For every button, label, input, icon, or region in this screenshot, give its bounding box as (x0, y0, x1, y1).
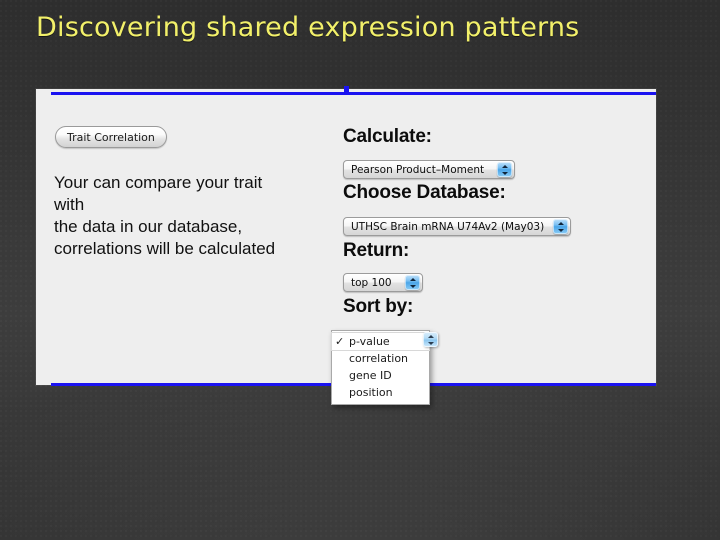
checkmark-icon: ✓ (335, 333, 344, 350)
panel-top-rule-notch (344, 86, 349, 92)
menu-item-label: p-value (349, 335, 390, 348)
menu-item-gene-id[interactable]: gene ID (332, 367, 429, 384)
chevron-updown-icon (405, 275, 420, 290)
sort-by-open-menu[interactable]: ✓ p-value correlation gene ID position (331, 330, 430, 405)
menu-item-correlation[interactable]: correlation (332, 350, 429, 367)
description-line-3: the data in our database, (54, 216, 334, 238)
chevron-updown-icon (497, 162, 512, 177)
slide-title: Discovering shared expression patterns (36, 12, 579, 43)
description-text: Your can compare your trait with the dat… (54, 172, 334, 260)
description-line-1: Your can compare your trait (54, 172, 334, 194)
sort-by-heading: Sort by: (343, 296, 413, 318)
database-heading: Choose Database: (343, 182, 506, 204)
menu-item-p-value[interactable]: ✓ p-value (332, 333, 429, 350)
database-select[interactable]: UTHSC Brain mRNA U74Av2 (May03) (343, 217, 571, 236)
calculate-select[interactable]: Pearson Product–Moment (343, 160, 515, 179)
menu-item-label: correlation (349, 352, 408, 365)
description-line-2: with (54, 194, 334, 216)
menu-item-position[interactable]: position (332, 384, 429, 401)
menu-item-label: position (349, 386, 393, 399)
database-select-value: UTHSC Brain mRNA U74Av2 (May03) (351, 221, 548, 233)
trait-correlation-button-label: Trait Correlation (67, 131, 155, 144)
trait-correlation-button[interactable]: Trait Correlation (55, 126, 167, 148)
return-select-value: top 100 (351, 277, 400, 289)
return-select[interactable]: top 100 (343, 273, 423, 292)
chevron-updown-icon (553, 219, 568, 234)
calculate-heading: Calculate: (343, 126, 432, 148)
return-heading: Return: (343, 240, 409, 262)
menu-item-label: gene ID (349, 369, 392, 382)
panel-top-rule (51, 92, 656, 95)
calculate-select-value: Pearson Product–Moment (351, 164, 492, 176)
slide-canvas: Discovering shared expression patterns T… (0, 0, 720, 540)
description-line-4: correlations will be calculated (54, 238, 334, 260)
sort-by-chevron-updown-icon[interactable] (423, 332, 438, 347)
